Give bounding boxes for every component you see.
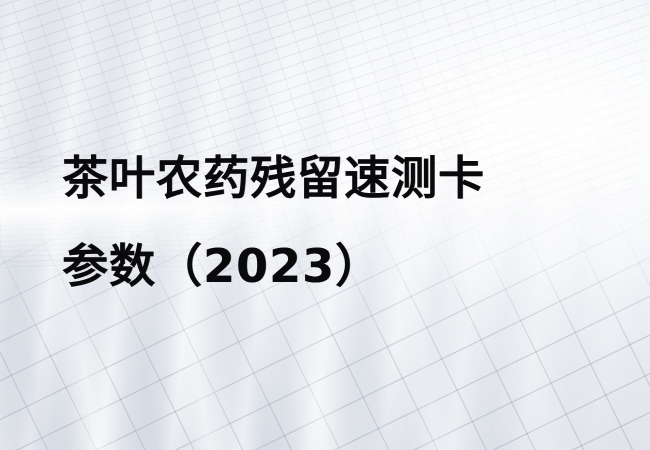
title-line-2: 参数（2023）	[62, 222, 582, 310]
title-line-1: 茶叶农药残留速测卡	[62, 134, 582, 222]
title-banner: 茶叶农药残留速测卡 参数（2023）	[0, 0, 650, 450]
page-title: 茶叶农药残留速测卡 参数（2023）	[62, 134, 582, 310]
